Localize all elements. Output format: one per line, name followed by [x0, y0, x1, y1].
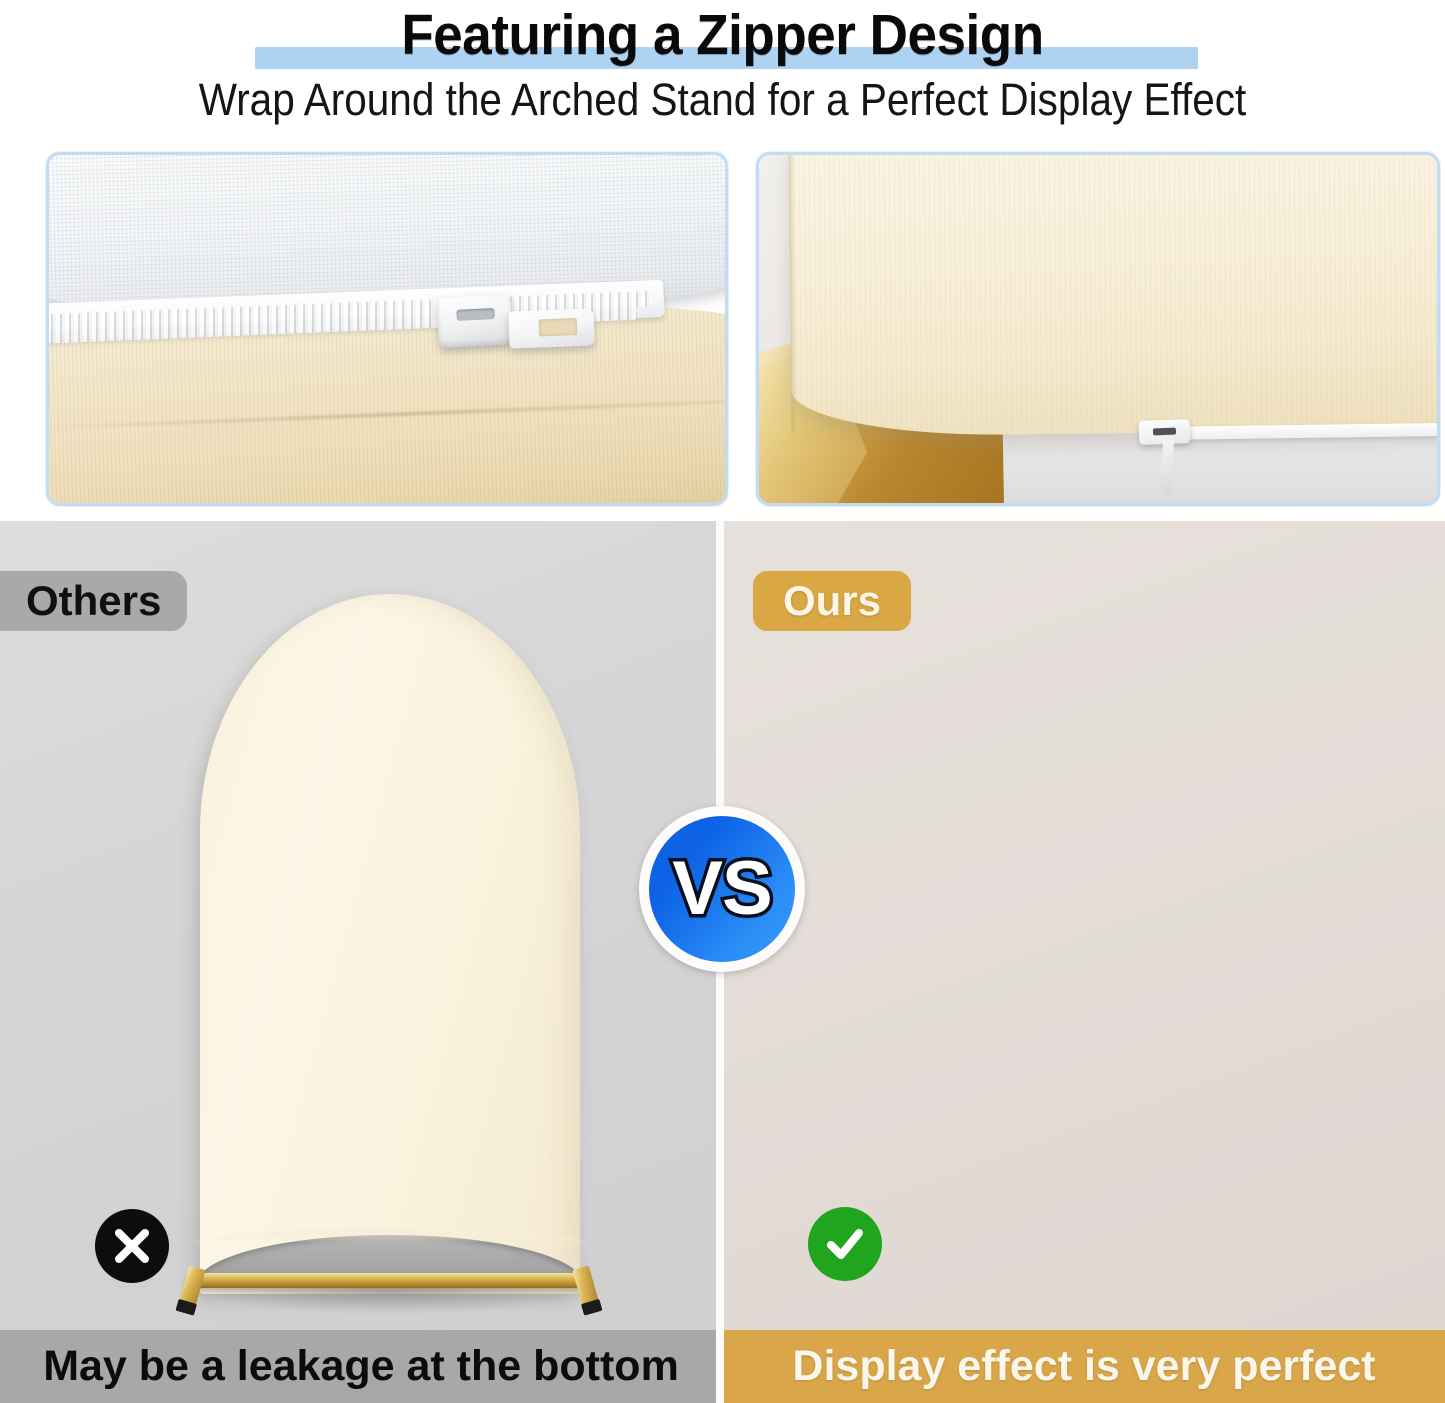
vs-label: VS	[672, 851, 771, 927]
others-floor-shadow	[190, 1287, 590, 1313]
others-caption: May be a leakage at the bottom	[0, 1330, 722, 1403]
header: Featuring a Zipper Design Wrap Around th…	[0, 0, 1445, 140]
zipper-slider	[436, 294, 513, 348]
others-arch-cover	[200, 594, 580, 1294]
gold-base-bar	[186, 1273, 590, 1288]
ivory-cover-cloth	[788, 152, 1440, 437]
photo-row	[0, 152, 1445, 510]
ours-caption: Display effect is very perfect	[723, 1330, 1445, 1403]
vs-badge: VS	[639, 806, 805, 972]
zipper-pull-tab	[508, 308, 594, 347]
zipper-closeup-photo	[46, 152, 728, 506]
ours-badge: Ours	[753, 571, 911, 631]
check-icon	[808, 1207, 882, 1281]
page-subtitle: Wrap Around the Arched Stand for a Perfe…	[72, 72, 1373, 128]
x-icon	[95, 1209, 169, 1283]
product-feature-graphic: Featuring a Zipper Design Wrap Around th…	[0, 0, 1445, 1403]
title-wrapper: Featuring a Zipper Design	[0, 2, 1445, 68]
page-title: Featuring a Zipper Design	[51, 2, 1395, 68]
others-badge: Others	[0, 571, 187, 631]
arch-stand-wrap-photo	[756, 152, 1440, 506]
vs-circle: VS	[649, 816, 795, 962]
